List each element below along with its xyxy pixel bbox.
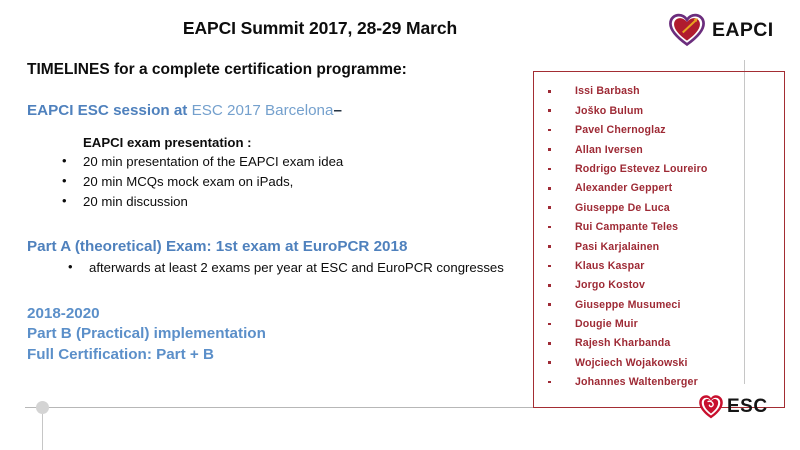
list-item: Rui Campante Teles: [534, 218, 784, 237]
eapci-wordmark: EAPCI: [712, 19, 774, 42]
list-item: Jorgo Kostov: [534, 276, 784, 295]
list-item: 20 min MCQs mock exam on iPads,: [59, 173, 527, 192]
main-content: TIMELINES for a complete certification p…: [27, 60, 527, 366]
list-item: Giuseppe Musumeci: [534, 295, 784, 314]
timeline-node-marker: [36, 401, 49, 414]
esc-session-dash: –: [333, 102, 341, 119]
closing-block: 2018-2020 Part B (Practical) implementat…: [27, 304, 527, 366]
part-a-heading: Part A (theoretical) Exam: 1st exam at E…: [27, 237, 527, 257]
eapci-logo: EAPCI: [668, 10, 792, 50]
closing-part-b: Part B (Practical) implementation: [27, 324, 527, 345]
list-item: 20 min presentation of the EAPCI exam id…: [59, 153, 527, 172]
esc-wordmark: ESC: [727, 396, 768, 418]
timeline-horizontal-rule: [25, 407, 533, 408]
list-item: Pavel Chernoglaz: [534, 121, 784, 140]
list-item: Alexander Geppert: [534, 179, 784, 198]
list-item: Giuseppe De Luca: [534, 198, 784, 217]
list-item: Joško Bulum: [534, 101, 784, 120]
timelines-headline: TIMELINES for a complete certification p…: [27, 60, 527, 79]
exam-presentation-bullets: 20 min presentation of the EAPCI exam id…: [59, 153, 527, 211]
list-item: 20 min discussion: [59, 193, 527, 212]
participant-names-list: Issi Barbash Joško Bulum Pavel Chernogla…: [534, 72, 784, 392]
exam-presentation-title: EAPCI exam presentation :: [83, 135, 527, 150]
list-item: Wojciech Wojakowski: [534, 353, 784, 372]
closing-full-certification: Full Certification: Part + B: [27, 345, 527, 366]
list-item: afterwards at least 2 exams per year at …: [65, 259, 527, 278]
exam-presentation-block: EAPCI exam presentation : 20 min present…: [59, 135, 527, 211]
list-item: Pasi Karjalainen: [534, 237, 784, 256]
list-item: Johannes Waltenberger: [534, 373, 784, 392]
timeline-vertical-stem: [42, 414, 43, 450]
closing-years: 2018-2020: [27, 304, 527, 325]
list-item: Dougie Muir: [534, 315, 784, 334]
list-item: Klaus Kaspar: [534, 257, 784, 276]
slide-canvas: EAPCI Summit 2017, 28-29 March EAPCI TIM…: [0, 0, 800, 450]
esc-session-bold: EAPCI ESC session at: [27, 102, 192, 119]
part-a-bullets: afterwards at least 2 exams per year at …: [65, 259, 527, 278]
esc-session-heading: EAPCI ESC session at ESC 2017 Barcelona–: [27, 101, 527, 121]
esc-logo: ESC: [698, 392, 798, 422]
esc-session-light: ESC 2017 Barcelona: [192, 102, 334, 119]
eapci-heart-arrow-icon: [668, 13, 706, 47]
list-item: Allan Iversen: [534, 140, 784, 159]
page-title: EAPCI Summit 2017, 28-29 March: [0, 18, 640, 39]
participant-names-panel: Issi Barbash Joško Bulum Pavel Chernogla…: [533, 71, 785, 408]
list-item: Rodrigo Estevez Loureiro: [534, 160, 784, 179]
list-item: Issi Barbash: [534, 82, 784, 101]
list-item: Rajesh Kharbanda: [534, 334, 784, 353]
part-a-block: Part A (theoretical) Exam: 1st exam at E…: [27, 237, 527, 277]
esc-heart-icon: [698, 394, 724, 420]
